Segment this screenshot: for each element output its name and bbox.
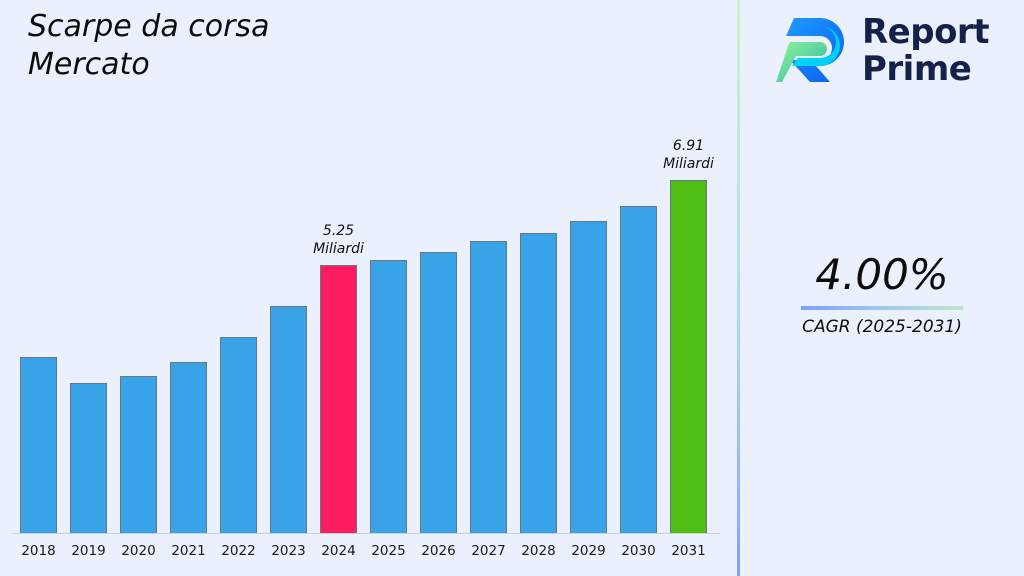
- x-tick-2020: 2020: [114, 543, 164, 559]
- x-tick-2018: 2018: [14, 543, 64, 559]
- bar-2018: [20, 357, 57, 534]
- x-tick-2029: 2029: [564, 543, 614, 559]
- bar-2025: [370, 260, 407, 534]
- bar-value-label-2031: 6.91 Miliardi: [639, 138, 739, 173]
- bar-2030: [620, 206, 657, 534]
- bar-2023: [270, 306, 307, 534]
- bar-2020: [120, 376, 157, 534]
- bar-2022: [220, 337, 257, 534]
- x-axis-line: [12, 533, 720, 534]
- cagr-divider-rule: [801, 306, 963, 310]
- report-prime-r-logo-icon: [776, 12, 850, 90]
- brand-logo: Report Prime: [776, 12, 989, 90]
- chart-panel: Scarpe da corsa Mercato 5.25 Miliardi6.9…: [0, 0, 738, 576]
- bar-2027: [470, 241, 507, 534]
- bar-chart-plot-area: 5.25 Miliardi6.91 Miliardi: [0, 0, 738, 534]
- bar-2028: [520, 233, 557, 534]
- x-tick-2021: 2021: [164, 543, 214, 559]
- bar-2026: [420, 252, 457, 534]
- x-tick-2019: 2019: [64, 543, 114, 559]
- cagr-value: 4.00%: [740, 252, 1024, 298]
- cagr-caption: CAGR (2025-2031): [740, 317, 1024, 337]
- x-tick-2026: 2026: [414, 543, 464, 559]
- cagr-block: 4.00% CAGR (2025-2031): [740, 252, 1024, 337]
- x-tick-2023: 2023: [264, 543, 314, 559]
- x-tick-2024: 2024: [314, 543, 364, 559]
- bar-value-label-2024: 5.25 Miliardi: [289, 223, 389, 258]
- bar-2024: [320, 265, 357, 534]
- side-panel: Report Prime 4.00% CAGR (2025-2031): [740, 0, 1024, 576]
- brand-logo-text: Report Prime: [862, 14, 989, 87]
- bar-2021: [170, 362, 207, 534]
- bar-2031: [670, 180, 707, 534]
- x-tick-2025: 2025: [364, 543, 414, 559]
- bar-2019: [70, 383, 107, 534]
- x-tick-2030: 2030: [614, 543, 664, 559]
- bar-2029: [570, 221, 607, 534]
- x-tick-2028: 2028: [514, 543, 564, 559]
- x-tick-2031: 2031: [664, 543, 714, 559]
- x-tick-2022: 2022: [214, 543, 264, 559]
- x-tick-2027: 2027: [464, 543, 514, 559]
